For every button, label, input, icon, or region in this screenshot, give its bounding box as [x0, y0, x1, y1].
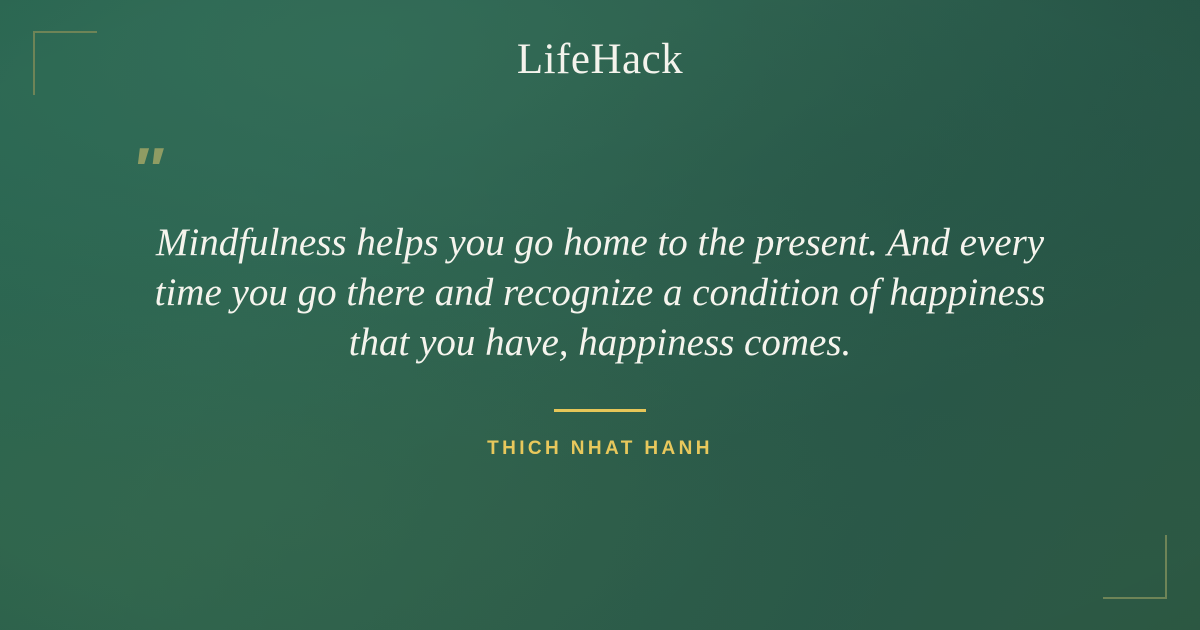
quote-card: LifeHack ″ Mindfulness helps you go home…: [0, 0, 1200, 630]
quote-block: ″ Mindfulness helps you go home to the p…: [100, 140, 1100, 368]
quote-text: Mindfulness helps you go home to the pre…: [100, 140, 1100, 368]
brand-logo: LifeHack: [0, 38, 1200, 81]
attribution: THICH NHAT HANH: [0, 438, 1200, 460]
attribution-author: THICH NHAT HANH: [487, 438, 713, 460]
quotation-mark-icon: ″: [132, 140, 160, 202]
quote-line: time you go there and recognize a condit…: [104, 268, 1096, 318]
quote-line: Mindfulness helps you go home to the pre…: [104, 218, 1096, 268]
corner-bracket-bottom-right-icon: [1103, 535, 1167, 599]
quote-line: that you have, happiness comes.: [104, 318, 1096, 368]
brand-logo-text: LifeHack: [517, 38, 683, 81]
attribution-divider: [554, 409, 646, 412]
